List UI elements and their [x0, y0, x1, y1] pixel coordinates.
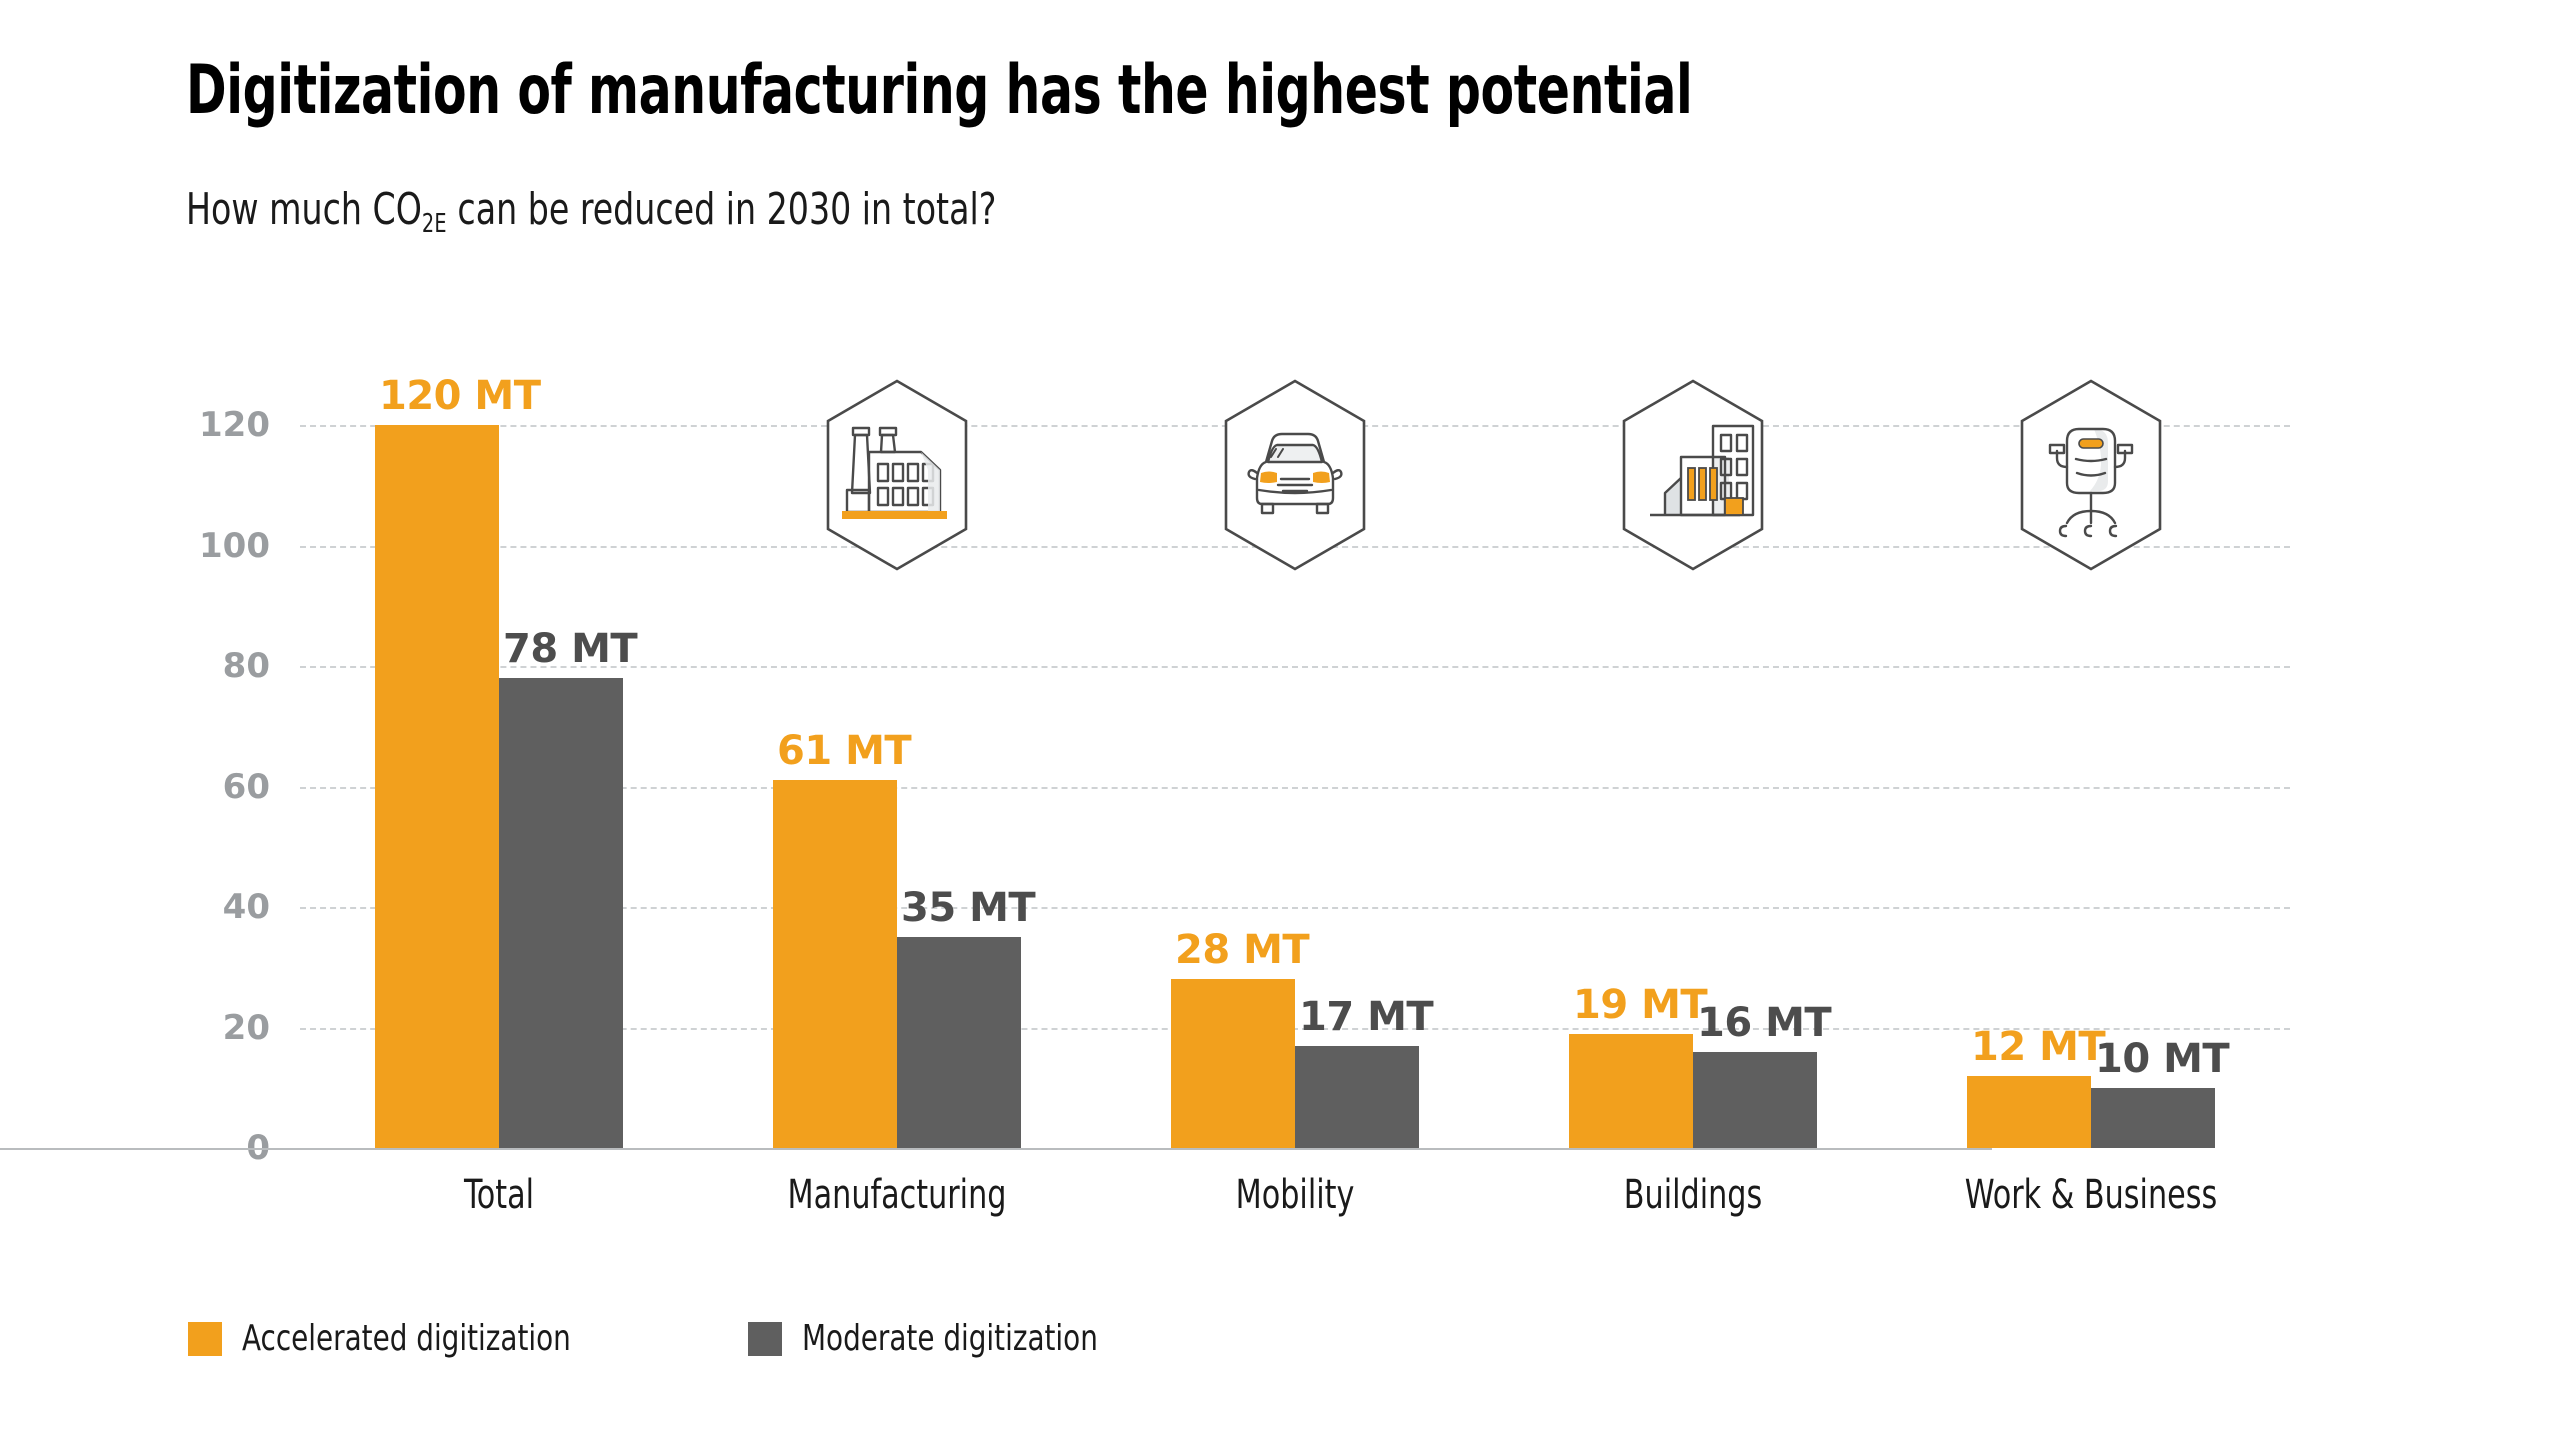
bar-value-label: 78 MT	[503, 626, 637, 672]
legend-label: Accelerated digitization	[242, 1318, 571, 1359]
office-buildings-icon	[1593, 375, 1793, 575]
bar-value-label: 35 MT	[901, 885, 1035, 931]
bar-value-label: 28 MT	[1175, 927, 1309, 973]
bar-moderate[interactable]	[2091, 1088, 2215, 1148]
factory-icon	[797, 375, 997, 575]
chart-page: Digitization of manufacturing has the hi…	[0, 0, 2560, 1439]
bar-value-label: 19 MT	[1573, 982, 1707, 1028]
y-axis-tick-label: 60	[140, 767, 270, 807]
bar-moderate[interactable]	[897, 937, 1021, 1148]
x-axis-category-label: Mobility	[1236, 1172, 1355, 1218]
legend-swatch-orange	[188, 1322, 222, 1356]
bar-value-label: 16 MT	[1697, 1000, 1831, 1046]
bar-accelerated[interactable]	[375, 425, 499, 1148]
bar-value-label: 12 MT	[1971, 1024, 2105, 1070]
bar-value-label: 61 MT	[777, 728, 911, 774]
y-axis-tick-label: 120	[140, 405, 270, 445]
bar-moderate[interactable]	[499, 678, 623, 1148]
subtitle-pre: How much CO	[186, 184, 422, 235]
y-axis-tick-label: 40	[140, 887, 270, 927]
bar-moderate[interactable]	[1295, 1046, 1419, 1148]
bar-value-label: 120 MT	[379, 373, 541, 419]
legend: Accelerated digitizationModerate digitiz…	[188, 1318, 1146, 1359]
bar-value-label: 17 MT	[1299, 994, 1433, 1040]
x-axis-line	[0, 1148, 1992, 1150]
bar-value-label: 10 MT	[2095, 1036, 2229, 1082]
bar-accelerated[interactable]	[1171, 979, 1295, 1148]
legend-item[interactable]: Accelerated digitization	[188, 1318, 624, 1359]
bar-accelerated[interactable]	[773, 780, 897, 1148]
bar-accelerated[interactable]	[1967, 1076, 2091, 1148]
x-axis-category-label: Total	[464, 1172, 534, 1218]
subtitle-post: can be reduced in 2030 in total?	[447, 184, 996, 235]
y-axis-tick-label: 100	[140, 526, 270, 566]
car-icon	[1195, 375, 1395, 575]
subtitle-subscript: 2E	[422, 209, 447, 239]
legend-label: Moderate digitization	[802, 1318, 1098, 1359]
bar-accelerated[interactable]	[1569, 1034, 1693, 1148]
bar-moderate[interactable]	[1693, 1052, 1817, 1148]
x-axis-category-label: Manufacturing	[788, 1172, 1007, 1218]
legend-swatch-gray	[748, 1322, 782, 1356]
y-axis-tick-label: 20	[140, 1008, 270, 1048]
office-chair-icon	[1991, 375, 2191, 575]
y-axis-tick-label: 80	[140, 646, 270, 686]
x-axis-category-label: Buildings	[1624, 1172, 1762, 1218]
y-axis: 020406080100120	[140, 425, 270, 1148]
x-axis-category-label: Work & Business	[1965, 1172, 2217, 1218]
legend-item[interactable]: Moderate digitization	[748, 1318, 1146, 1359]
page-title: Digitization of manufacturing has the hi…	[186, 55, 1692, 126]
page-subtitle: How much CO2E can be reduced in 2030 in …	[186, 186, 996, 234]
